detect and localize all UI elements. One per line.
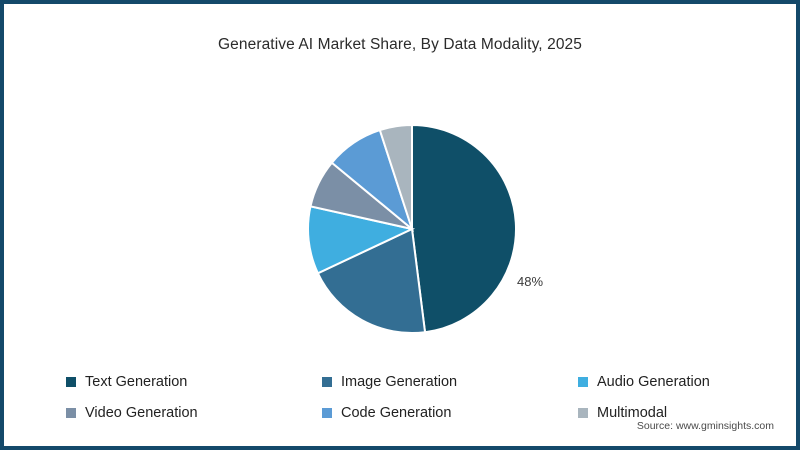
legend-swatch-icon <box>322 408 332 418</box>
legend-item[interactable]: Audio Generation <box>578 374 742 390</box>
legend-item-label: Video Generation <box>85 405 198 421</box>
legend-item[interactable]: Text Generation <box>66 374 322 390</box>
chart-card: Generative AI Market Share, By Data Moda… <box>0 0 800 450</box>
pie-chart <box>307 124 517 334</box>
legend-swatch-icon <box>578 377 588 387</box>
legend-item-label: Multimodal <box>597 405 667 421</box>
legend-swatch-icon <box>578 408 588 418</box>
chart-legend: Text GenerationImage GenerationAudio Gen… <box>66 366 742 428</box>
legend-item[interactable]: Multimodal <box>578 405 742 421</box>
legend-item-label: Audio Generation <box>597 374 710 390</box>
pie-slice[interactable] <box>412 125 516 332</box>
legend-item-label: Text Generation <box>85 374 187 390</box>
legend-item[interactable]: Video Generation <box>66 405 322 421</box>
legend-swatch-icon <box>322 377 332 387</box>
legend-swatch-icon <box>66 377 76 387</box>
source-note: Source: www.gminsights.com <box>637 420 774 432</box>
legend-item[interactable]: Code Generation <box>322 405 578 421</box>
legend-swatch-icon <box>66 408 76 418</box>
pie-data-label-text-generation: 48% <box>517 274 543 289</box>
legend-item[interactable]: Image Generation <box>322 374 578 390</box>
legend-item-label: Code Generation <box>341 405 451 421</box>
pie-slice-group <box>308 125 516 333</box>
pie-chart-svg <box>307 124 517 334</box>
legend-item-label: Image Generation <box>341 374 457 390</box>
chart-title: Generative AI Market Share, By Data Moda… <box>4 36 796 54</box>
